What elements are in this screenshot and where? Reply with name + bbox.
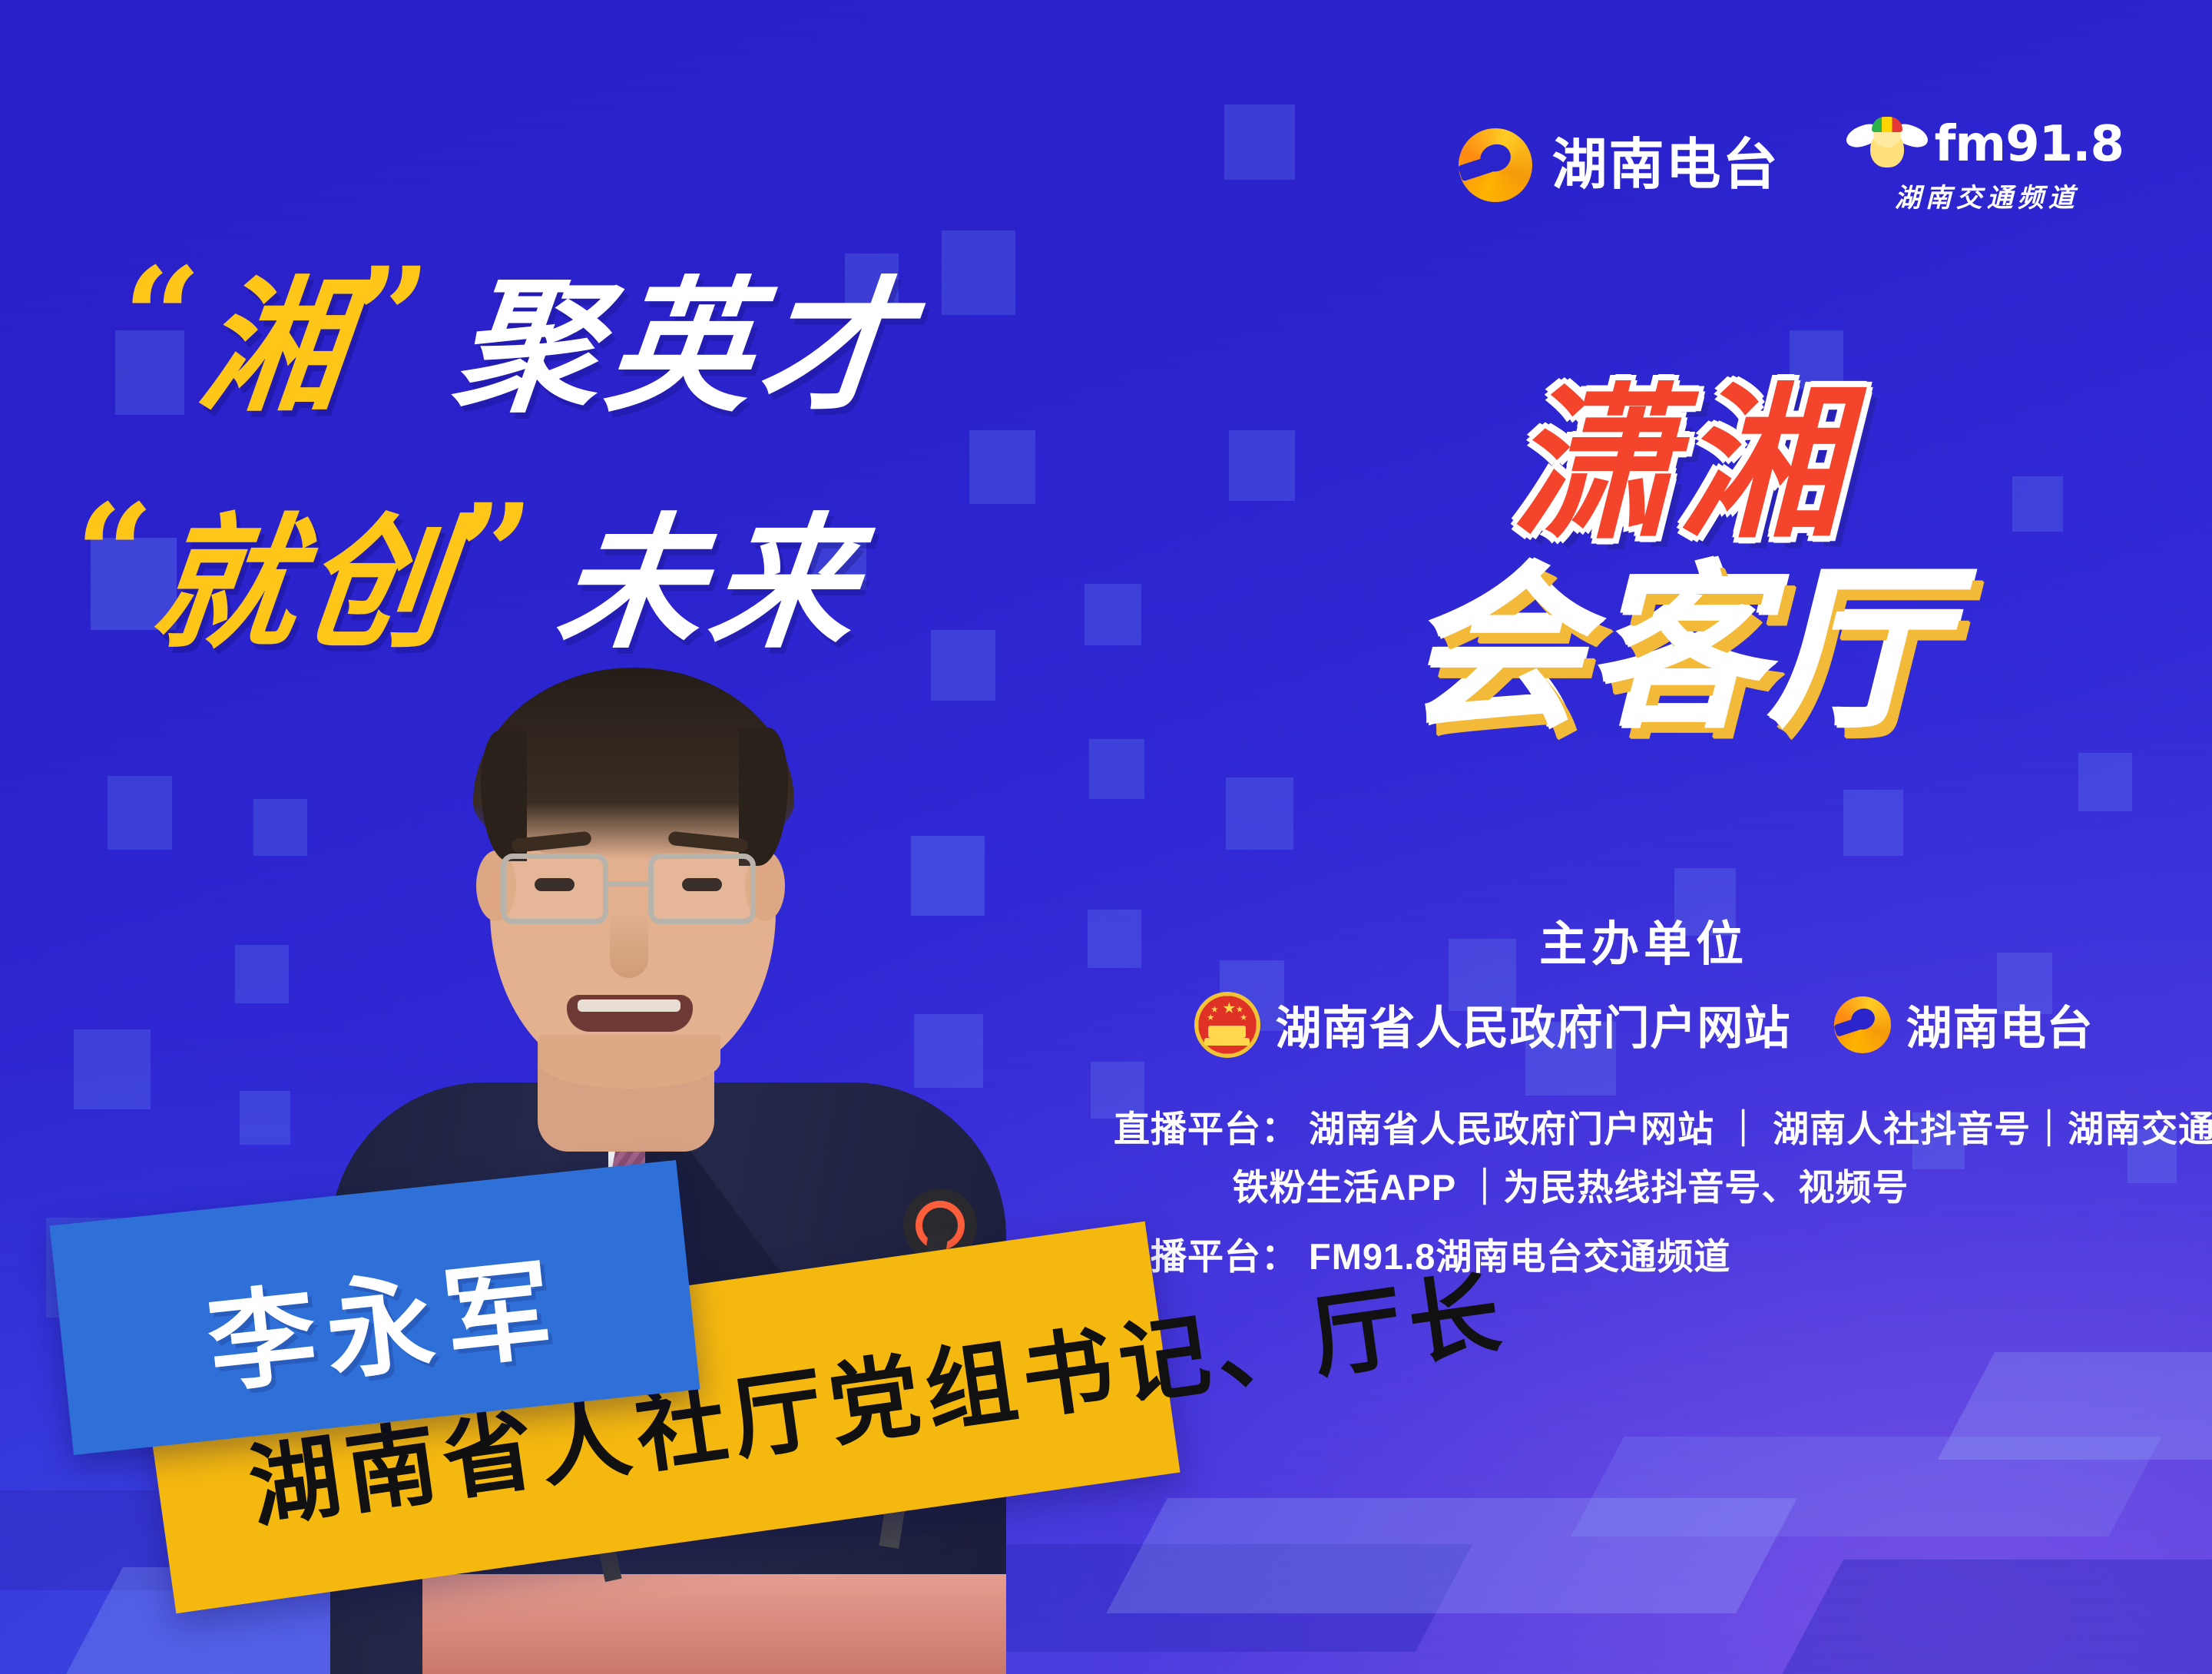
fm-frequency-label: fm91.8 (1935, 120, 2124, 169)
quote-close-1: ” (353, 277, 432, 360)
organizer-section: 主办单位 (1114, 905, 2174, 974)
national-emblem-icon (1194, 992, 1260, 1058)
quote-open-2: “ (75, 514, 154, 596)
organizer-item-government: 湖南省人民政府门户网站 (1194, 991, 1791, 1058)
live-platform-line-1: 直播平台： 湖南省人民政府门户网站 ｜ 湖南人社抖音号｜湖南交通频道视频号 (1114, 1100, 2189, 1159)
platform-info: 直播平台： 湖南省人民政府门户网站 ｜ 湖南人社抖音号｜湖南交通频道视频号 铁粉… (1114, 1100, 2189, 1286)
hunan-radio-label: 湖南电台 (1552, 138, 1780, 193)
program-logo-top: 潇湘 (1333, 384, 2024, 546)
headline-rest-1: 聚英才 (446, 230, 925, 439)
podium (422, 1574, 1006, 1674)
quote-open-1: “ (123, 277, 202, 360)
organizer-label-radio: 湖南电台 (1906, 991, 2094, 1058)
organizer-item-radio: 湖南电台 (1834, 991, 2094, 1058)
poster-canvas: 湖南电台 fm91.8 湖南交通频道 “ 湘 ” 聚英才 “ 就创 ” 未来 (0, 0, 2212, 1674)
fm-channel-logo: fm91.8 湖南交通频道 (1850, 115, 2124, 214)
top-logo-bar: 湖南电台 fm91.8 湖南交通频道 (1459, 115, 2124, 214)
fm-channel-label: 湖南交通频道 (1895, 177, 2079, 214)
hunan-radio-logo: 湖南电台 (1459, 128, 1780, 202)
fm-bird-mascot-icon (1850, 115, 1924, 174)
organizer-list: 湖南省人民政府门户网站 湖南电台 (1114, 991, 2174, 1058)
organizer-label-government: 湖南省人民政府门户网站 (1276, 991, 1791, 1058)
program-logo: 潇湘 会客厅 (1333, 384, 2024, 740)
headline-line-1: “ 湘 ” 聚英才 (123, 230, 1137, 439)
program-logo-bottom: 会客厅 (1333, 563, 2024, 740)
live-platform-line-2: 铁粉生活APP ｜为民热线抖音号、视频号 (1114, 1159, 2189, 1217)
guest-name: 李永军 (200, 1222, 569, 1414)
hunan-radio-mark-icon (1459, 128, 1532, 202)
eyeglasses (501, 854, 608, 924)
hunan-radio-mark-icon (1834, 996, 1891, 1053)
headline-quoted-1: 湘 (190, 230, 363, 439)
organizer-heading: 主办单位 (1114, 905, 2174, 974)
